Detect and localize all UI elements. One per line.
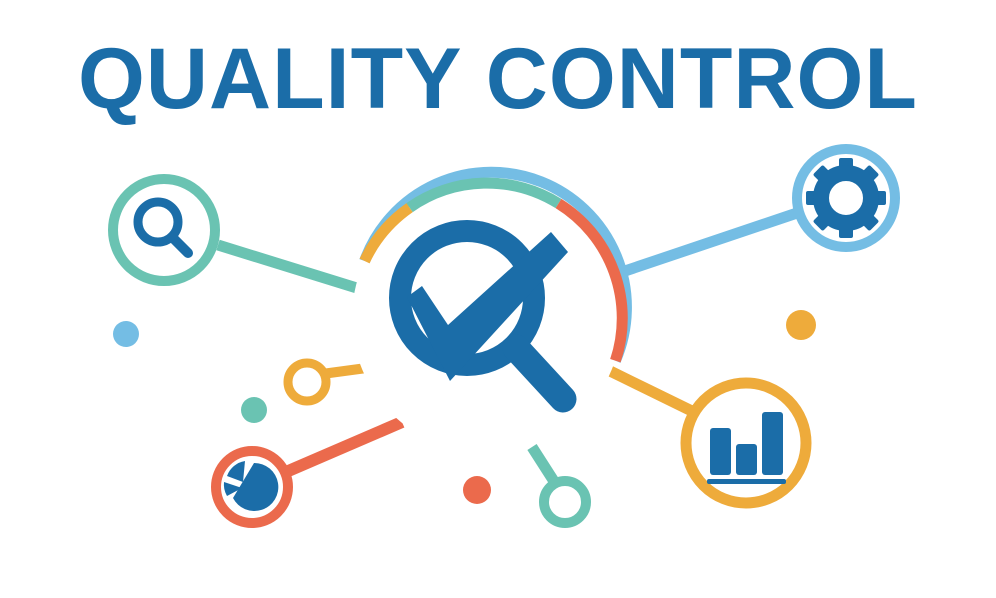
blue-accent-dot [113,321,139,347]
quality-check-magnifier[interactable] [352,172,626,453]
teal-accent-dot [241,397,267,423]
connector-analysis [286,422,402,472]
inspection-node[interactable] [113,179,215,281]
connector-process-settings [616,212,800,274]
bar-chart-bar-3 [762,412,783,475]
red-accent-dot [463,476,491,504]
small-teal-ring-outline [544,481,586,523]
bar-chart-bar-2 [736,444,757,475]
connector-metrics [608,370,702,416]
metrics-node[interactable] [686,383,806,503]
analysis-node[interactable] [216,451,288,523]
small-teal-ring-node[interactable] [544,481,586,523]
quality-control-network-diagram [0,0,996,598]
bar-chart-bar-1 [710,428,731,475]
bar-chart-baseline [707,479,786,484]
process-settings-node[interactable] [797,149,895,247]
small-yellow-ring-outline [288,363,326,401]
yellow-accent-dot [786,310,816,340]
small-yellow-ring-node[interactable] [288,363,326,401]
infographic-canvas: QUALITY CONTROL [0,0,996,598]
connector-inspection [218,245,360,289]
